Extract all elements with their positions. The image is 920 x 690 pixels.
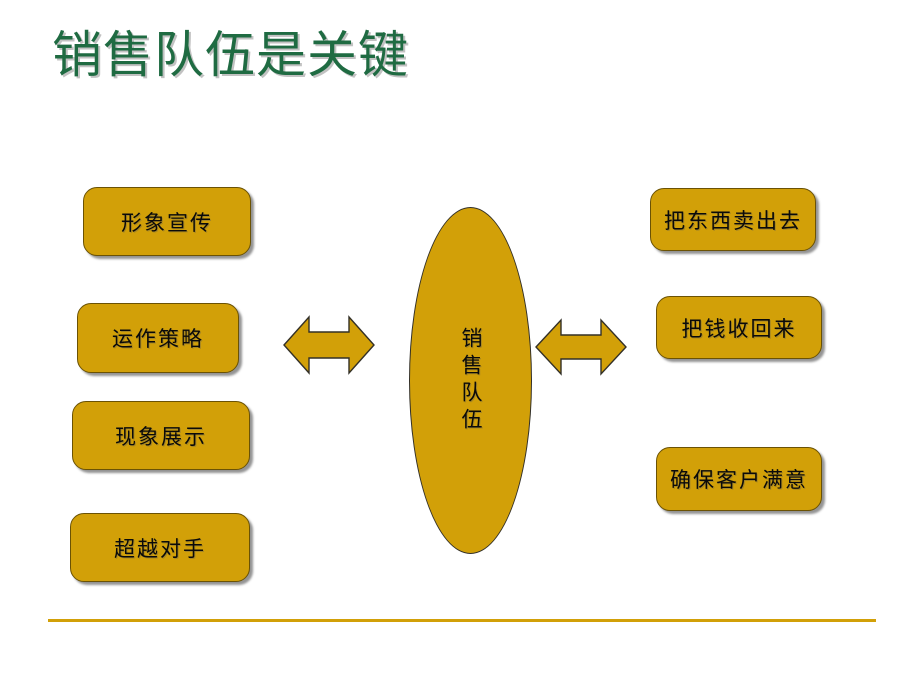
center-ellipse-label: 销售队伍 [455,327,486,435]
slide-canvas: 销售队伍是关键 形象宣传 运作策略 现象展示 超越对手 把东西卖出去 把钱收回来… [0,0,920,690]
left-double-arrow-icon [283,308,375,382]
footer-divider [48,619,876,622]
center-ellipse-node[interactable]: 销售队伍 [409,207,532,554]
left-node-1[interactable]: 形象宣传 [83,187,251,256]
right-double-arrow-icon [535,312,627,382]
left-node-2[interactable]: 运作策略 [77,303,239,373]
right-node-1[interactable]: 把东西卖出去 [650,188,816,251]
page-title: 销售队伍是关键 [52,24,852,86]
left-node-4[interactable]: 超越对手 [70,513,250,582]
right-node-3[interactable]: 确保客户满意 [656,447,822,511]
left-node-3[interactable]: 现象展示 [72,401,250,470]
right-node-2[interactable]: 把钱收回来 [656,296,822,359]
